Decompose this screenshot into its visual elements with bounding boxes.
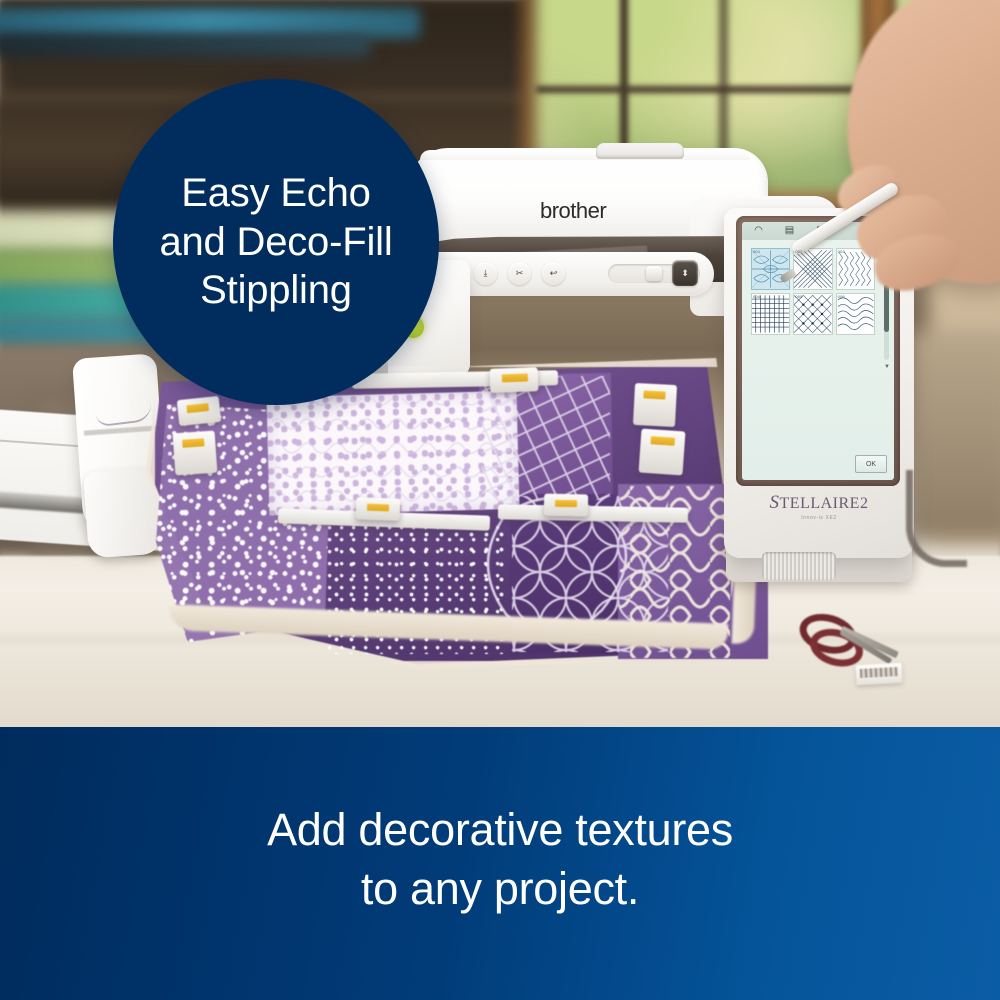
feature-badge-text: Easy Echo and Deco-Fill Stippling: [141, 169, 410, 315]
thread-cutter-button[interactable]: ✂: [508, 262, 531, 285]
pattern-star-dot-grid: [794, 294, 831, 334]
pattern-thumb-001[interactable]: 001: [751, 248, 790, 290]
feature-badge-line-3: Stippling: [159, 266, 392, 315]
model-nameplate: STELLAIRE2 Innov-is XE2: [744, 492, 894, 521]
lcd-scrollbar-thumb[interactable]: [884, 284, 889, 332]
model-subtitle: Innov-is XE2: [744, 515, 894, 521]
pattern-square-grid: [752, 294, 789, 334]
machine-carry-handle[interactable]: [596, 143, 684, 159]
needle-position-icon: ⤓: [484, 268, 488, 279]
model-rest: TELLAIRE: [780, 495, 860, 512]
lcd-scrollbar[interactable]: [884, 284, 889, 360]
pattern-wavy-stipple-lines: [837, 294, 874, 334]
pattern-thumb-005[interactable]: 005: [793, 293, 832, 335]
fabric-bolt-dark: [0, 34, 370, 56]
pattern-id: 002: [795, 249, 802, 254]
pattern-id: 005: [795, 294, 802, 299]
presser-foot-lift-button[interactable]: ⬍: [672, 260, 698, 286]
ok-button[interactable]: OK: [855, 455, 887, 473]
thread-cutter-icon: ✂: [516, 268, 524, 279]
speaker-grille: [762, 552, 836, 580]
caption-banner: Add decorative textures to any project.: [0, 727, 1000, 1000]
needle-position-button[interactable]: ⤓: [474, 262, 497, 285]
wifi-icon[interactable]: ◠: [752, 225, 765, 237]
window-mullion-horizontal: [536, 86, 872, 93]
pattern-id: 001: [753, 249, 760, 254]
model-name: STELLAIRE2: [744, 492, 894, 514]
pattern-thumb-002[interactable]: 002: [793, 248, 832, 290]
feature-badge-line-2: and Deco-Fill: [159, 218, 392, 267]
speed-slider-knob[interactable]: [646, 266, 662, 281]
feature-badge: Easy Echo and Deco-Fill Stippling: [113, 79, 439, 405]
pattern-echo-diamond-lattice: [752, 249, 789, 289]
brother-logo-text: brother: [540, 198, 606, 223]
caption-line-2: to any project.: [267, 860, 733, 919]
product-photo: brother ⤓ ✂ ↩ ⬍: [0, 0, 1000, 727]
feature-badge-line-1: Easy Echo: [159, 169, 392, 218]
reverse-stitch-button[interactable]: ↩: [542, 262, 565, 285]
pattern-thumb-004[interactable]: 004: [751, 293, 790, 335]
model-number: 2: [860, 495, 869, 512]
caption-text: Add decorative textures to any project.: [267, 801, 733, 918]
machine-arm-seam: [420, 150, 750, 160]
power-cable: [906, 470, 967, 567]
chevron-down-icon[interactable]: ▼: [884, 364, 890, 370]
pattern-thumb-006[interactable]: 006: [836, 293, 875, 335]
document-icon[interactable]: ▤: [783, 225, 796, 237]
caption-line-1: Add decorative textures: [267, 801, 733, 860]
lcd-screen[interactable]: ◠ ▤ ⊞ 001: [742, 222, 894, 480]
pattern-diamond-crosshatch: [794, 249, 831, 289]
brother-logo: brother: [540, 198, 650, 224]
reverse-stitch-icon: ↩: [550, 268, 558, 279]
pattern-id: 006: [838, 294, 845, 299]
purple-patchwork-quilt: [150, 364, 730, 664]
stitch-pattern-grid: 001 002: [751, 248, 875, 335]
promo-image: brother ⤓ ✂ ↩ ⬍: [0, 0, 1000, 1000]
pattern-id: 004: [753, 294, 760, 299]
pattern-id: 003: [838, 249, 845, 254]
presser-foot-icon: ⬍: [681, 268, 689, 279]
model-initial: S: [770, 492, 780, 513]
